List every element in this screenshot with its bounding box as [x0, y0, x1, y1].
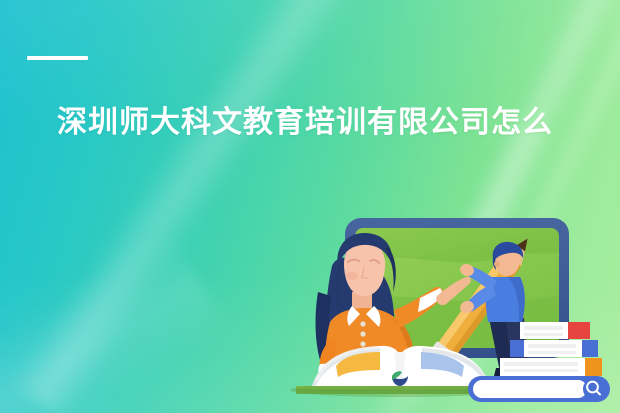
education-illustration — [0, 0, 620, 413]
magnifier-icon[interactable] — [583, 378, 605, 400]
book-orange — [500, 358, 602, 376]
search-bar[interactable] — [468, 376, 610, 402]
education-banner: 深圳师大科文教育培训有限公司怎么 — [0, 0, 620, 413]
book-blue — [510, 340, 598, 357]
book-red — [520, 322, 590, 339]
